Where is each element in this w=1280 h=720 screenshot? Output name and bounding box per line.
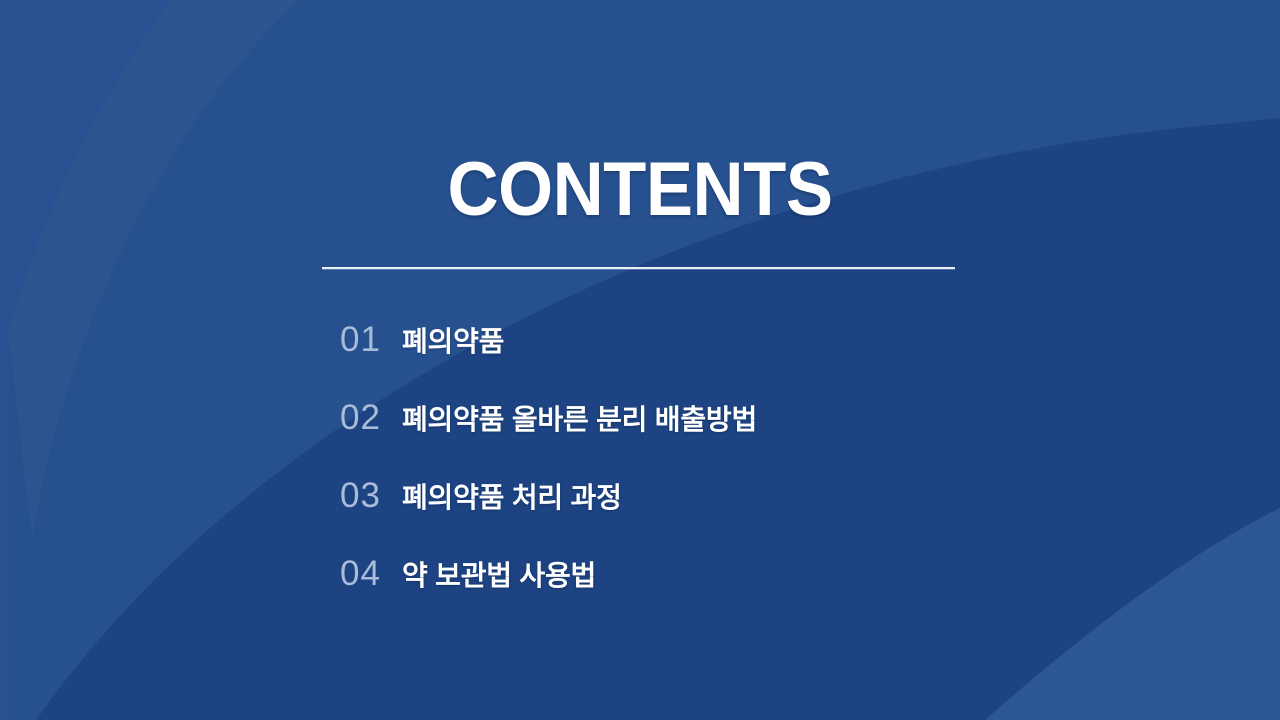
list-item-label: 폐의약품 올바른 분리 배출방법 — [402, 406, 1200, 434]
list-item-number: 03 — [340, 478, 402, 513]
page-title-container: CONTENTS — [0, 152, 1280, 228]
list-item[interactable]: 02 폐의약품 올바른 분리 배출방법 — [340, 400, 1200, 478]
list-item-number: 04 — [340, 556, 402, 591]
contents-list: 01 폐의약품 02 폐의약품 올바른 분리 배출방법 03 폐의약품 처리 과… — [340, 322, 1200, 634]
page-title: CONTENTS — [447, 152, 832, 228]
title-divider — [322, 267, 955, 269]
swoosh-light-wide — [0, 0, 300, 720]
list-item-label: 폐의약품 — [402, 328, 1200, 356]
list-item[interactable]: 03 폐의약품 처리 과정 — [340, 478, 1200, 556]
swoosh-accent-band — [8, 0, 300, 540]
list-item[interactable]: 01 폐의약품 — [340, 322, 1200, 400]
contents-slide: CONTENTS 01 폐의약품 02 폐의약품 올바른 분리 배출방법 03 … — [0, 0, 1280, 720]
list-item[interactable]: 04 약 보관법 사용법 — [340, 556, 1200, 634]
list-item-number: 02 — [340, 400, 402, 435]
list-item-number: 01 — [340, 322, 402, 357]
list-item-label: 약 보관법 사용법 — [402, 562, 1200, 590]
list-item-label: 폐의약품 처리 과정 — [402, 484, 1200, 512]
